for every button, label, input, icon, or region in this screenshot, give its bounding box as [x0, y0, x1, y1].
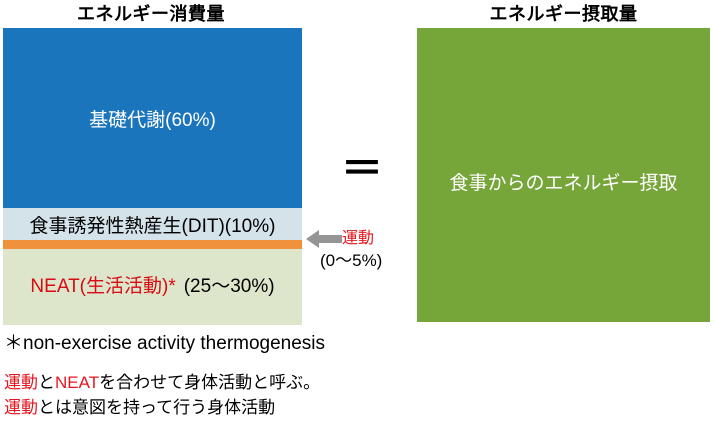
exercise-callout: 運動 (0〜5%): [306, 230, 410, 278]
note-line-exercise-definition: 運動とは意図を持って行う身体活動: [4, 396, 275, 420]
page-title-energy-expenditure: エネルギー消費量: [0, 2, 302, 26]
note-2-exercise-term: 運動: [4, 398, 38, 417]
bar-segment-diet-induced-thermogenesis-label: 食事誘発性熱産生(DIT)(10%): [30, 211, 276, 238]
left-arrow-icon: [306, 230, 342, 248]
note-1-conjunction: と: [38, 373, 55, 392]
note-line-physical-activity: 運動とNEATを合わせて身体活動と呼ぶ。: [4, 371, 320, 395]
energy-intake-box: 食事からのエネルギー摂取: [417, 28, 710, 322]
bar-segment-exercise: [3, 240, 302, 249]
bar-segment-neat: NEAT(生活活動)* (25〜30%): [3, 249, 302, 325]
note-1-tail: を合わせて身体活動と呼ぶ。: [99, 373, 320, 392]
note-1-neat-term: NEAT: [55, 373, 99, 392]
equals-sign: ＝: [341, 149, 381, 189]
bar-segment-basal-metabolism: 基礎代謝(60%): [3, 28, 302, 208]
energy-expenditure-stacked-bar: 基礎代謝(60%) 食事誘発性熱産生(DIT)(10%) NEAT(生活活動)*…: [3, 28, 302, 325]
bar-segment-neat-percent: (25〜30%): [184, 271, 275, 298]
bar-segment-diet-induced-thermogenesis: 食事誘発性熱産生(DIT)(10%): [3, 208, 302, 240]
bar-segment-basal-metabolism-label: 基礎代謝(60%): [89, 105, 216, 132]
note-2-tail: とは意図を持って行う身体活動: [38, 398, 275, 417]
exercise-callout-range: (0〜5%): [320, 251, 382, 271]
exercise-callout-label: 運動: [342, 230, 374, 248]
page-title-energy-intake: エネルギー摂取量: [417, 2, 710, 26]
footnote-neat-expansion: ＊non-exercise activity thermogenesis: [4, 331, 325, 357]
note-1-exercise-term: 運動: [4, 373, 38, 392]
energy-intake-label: 食事からのエネルギー摂取: [417, 168, 710, 195]
bar-segment-neat-label: NEAT(生活活動)*: [30, 271, 175, 298]
